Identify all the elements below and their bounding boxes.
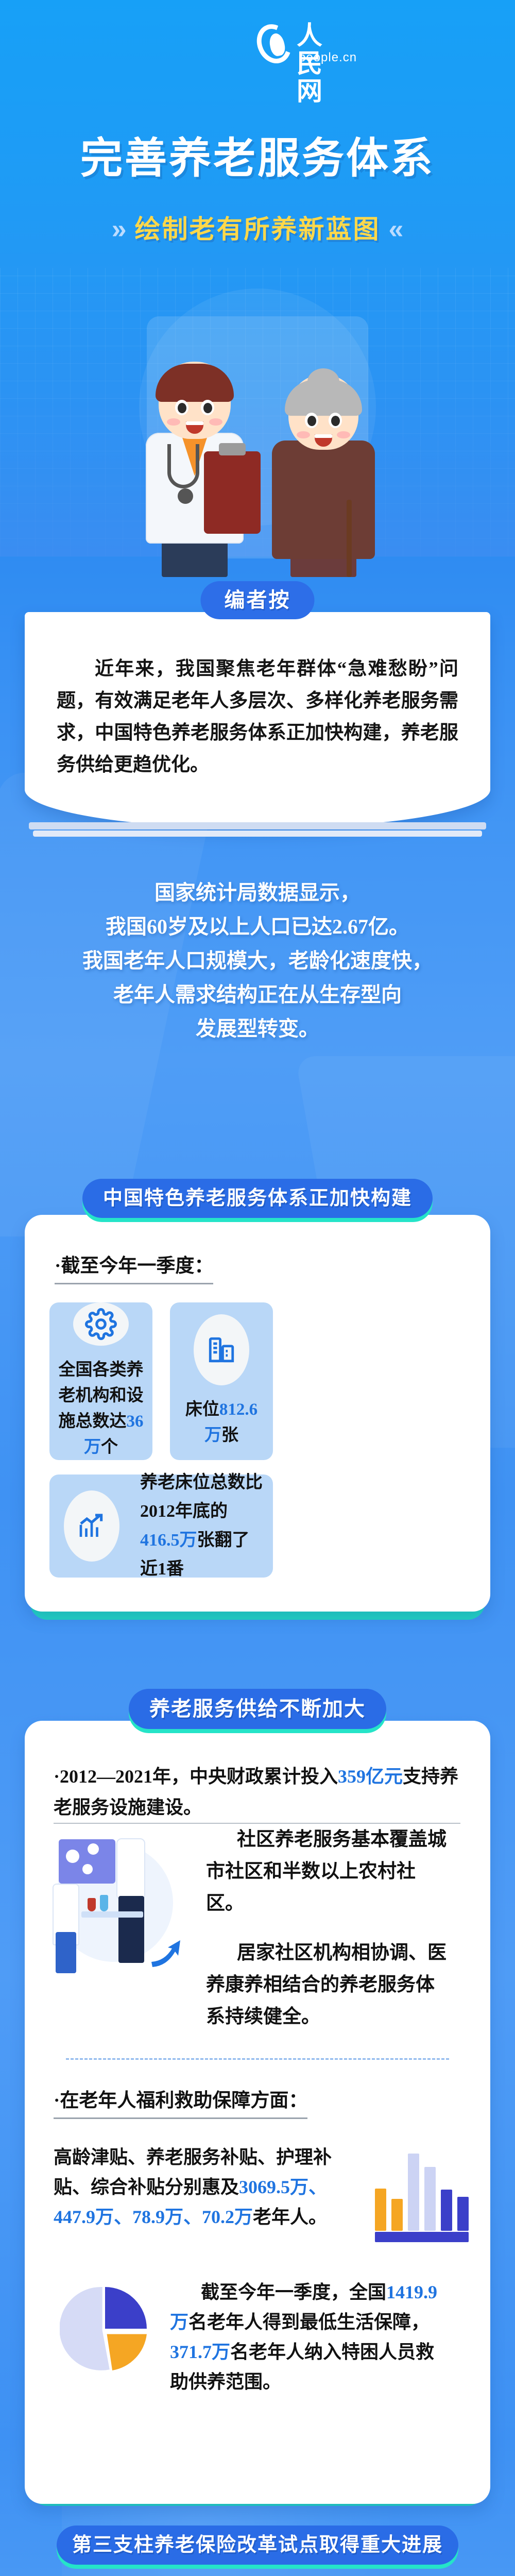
logo-name-en: people.cn — [299, 50, 357, 65]
stat-card-beds-text: 床位812.6万张 — [170, 1397, 273, 1448]
welfare-subsidies-text: 高龄津贴、养老服务补贴、护理补贴、综合补贴分别惠及3069.5万、447.9万、… — [54, 2142, 347, 2232]
elderly-figure — [268, 363, 379, 577]
stat-card-institutions: 全国各类养老机构和设施总数达36万个 — [49, 1302, 152, 1460]
beds-label: 床位 — [185, 1400, 219, 1419]
stat-card-bed-growth-text: 养老床位总数比2012年底的 416.5万张翻了近1番 — [133, 1468, 273, 1584]
editor-note-body: 近年来，我国聚焦老年群体“急难愁盼”问题，有效满足老年人多层次、多样化养老服务需… — [57, 653, 458, 781]
funding-label: ·2012—2021年，中央财政累计投入 — [54, 1766, 338, 1787]
welfare-bar-chart-icon — [375, 2148, 469, 2231]
editor-note-badge: 编者按 — [201, 581, 315, 619]
beds-unit: 张 — [221, 1426, 238, 1445]
bureau-statistics: 国家统计局数据显示， 我国60岁及以上人口已达2.67亿。 我国老年人口规模大，… — [31, 876, 484, 1046]
chevron-left-icon: » — [112, 214, 127, 245]
people-logo-icon — [251, 19, 297, 69]
section-2-para-2: 居家社区机构相协调、医养康养相结合的养老服务体系持续健全。 — [206, 1937, 448, 2033]
minsheng-label: 截至今年一季度，全国 — [201, 2282, 386, 2302]
section-2-bullet-1: ·2012—2021年，中央财政累计投入359亿元支持养老服务设施建设。 — [54, 1761, 460, 1824]
page-title: 完善养老服务体系 — [0, 135, 515, 182]
section-1-bullet: ·截至今年一季度： — [55, 1252, 213, 1284]
building-icon — [194, 1314, 249, 1385]
minsheng-pie-chart-icon — [60, 2283, 150, 2374]
bureau-line-2: 我国60岁及以上人口已达2.67亿。 — [31, 910, 484, 944]
bureau-line-3: 我国老年人口规模大，老龄化速度快， — [31, 944, 484, 978]
welfare-suffix: 老年人。 — [253, 2207, 327, 2227]
bureau-line-5: 发展型转变。 — [31, 1012, 484, 1046]
stat-card-beds: 床位812.6万张 — [170, 1302, 273, 1460]
minsheng-text: 截至今年一季度，全国1419.9万名老年人得到最低生活保障，371.7万名老年人… — [170, 2277, 448, 2397]
bed-growth-value: 416.5万 — [140, 1531, 197, 1550]
minsheng-value-2: 371.7万 — [170, 2342, 230, 2362]
bed-growth-line1: 养老床位总数比2012年底的 — [140, 1473, 263, 1521]
lab-illustration — [45, 1834, 200, 2004]
institutions-unit: 个 — [101, 1438, 118, 1456]
page-subtitle: 绘制老有所养新蓝图 — [135, 214, 381, 244]
bureau-line-1: 国家统计局数据显示， — [31, 876, 484, 910]
minsheng-mid: 名老年人得到最低生活保障， — [188, 2312, 430, 2332]
bureau-line-4: 老年人需求结构正在从生存型向 — [31, 978, 484, 1012]
hero-illustration — [0, 309, 515, 577]
card-stack-line-2 — [33, 831, 482, 837]
page-subtitle-row: » 绘制老有所养新蓝图 « — [0, 214, 515, 245]
section-3-header: 第三支柱养老保险改革试点取得重大进展 — [57, 2526, 458, 2565]
funding-value: 359亿元 — [338, 1766, 403, 1787]
section-2-para-1: 社区养老服务基本覆盖城市社区和半数以上农村社区。 — [206, 1824, 448, 1920]
growth-chart-icon — [64, 1490, 119, 1562]
gear-icon — [73, 1302, 129, 1346]
section-2-bullet-2: ·在老年人福利救助保障方面： — [54, 2087, 307, 2119]
section-2-header: 养老服务供给不断加大 — [129, 1689, 386, 1729]
section-divider — [66, 2058, 449, 2060]
card-stack-line-1 — [29, 822, 486, 829]
infographic-page: 人民网 people.cn 完善养老服务体系 » 绘制老有所养新蓝图 « — [0, 0, 515, 2576]
chevron-right-icon: « — [389, 214, 404, 245]
section-1-header: 中国特色养老服务体系正加快构建 — [82, 1179, 433, 1218]
doctor-figure — [138, 355, 251, 577]
site-logo[interactable]: 人民网 people.cn — [0, 22, 515, 69]
stat-card-institutions-text: 全国各类养老机构和设施总数达36万个 — [49, 1357, 152, 1460]
stat-card-bed-growth: 养老床位总数比2012年底的 416.5万张翻了近1番 — [49, 1475, 273, 1578]
